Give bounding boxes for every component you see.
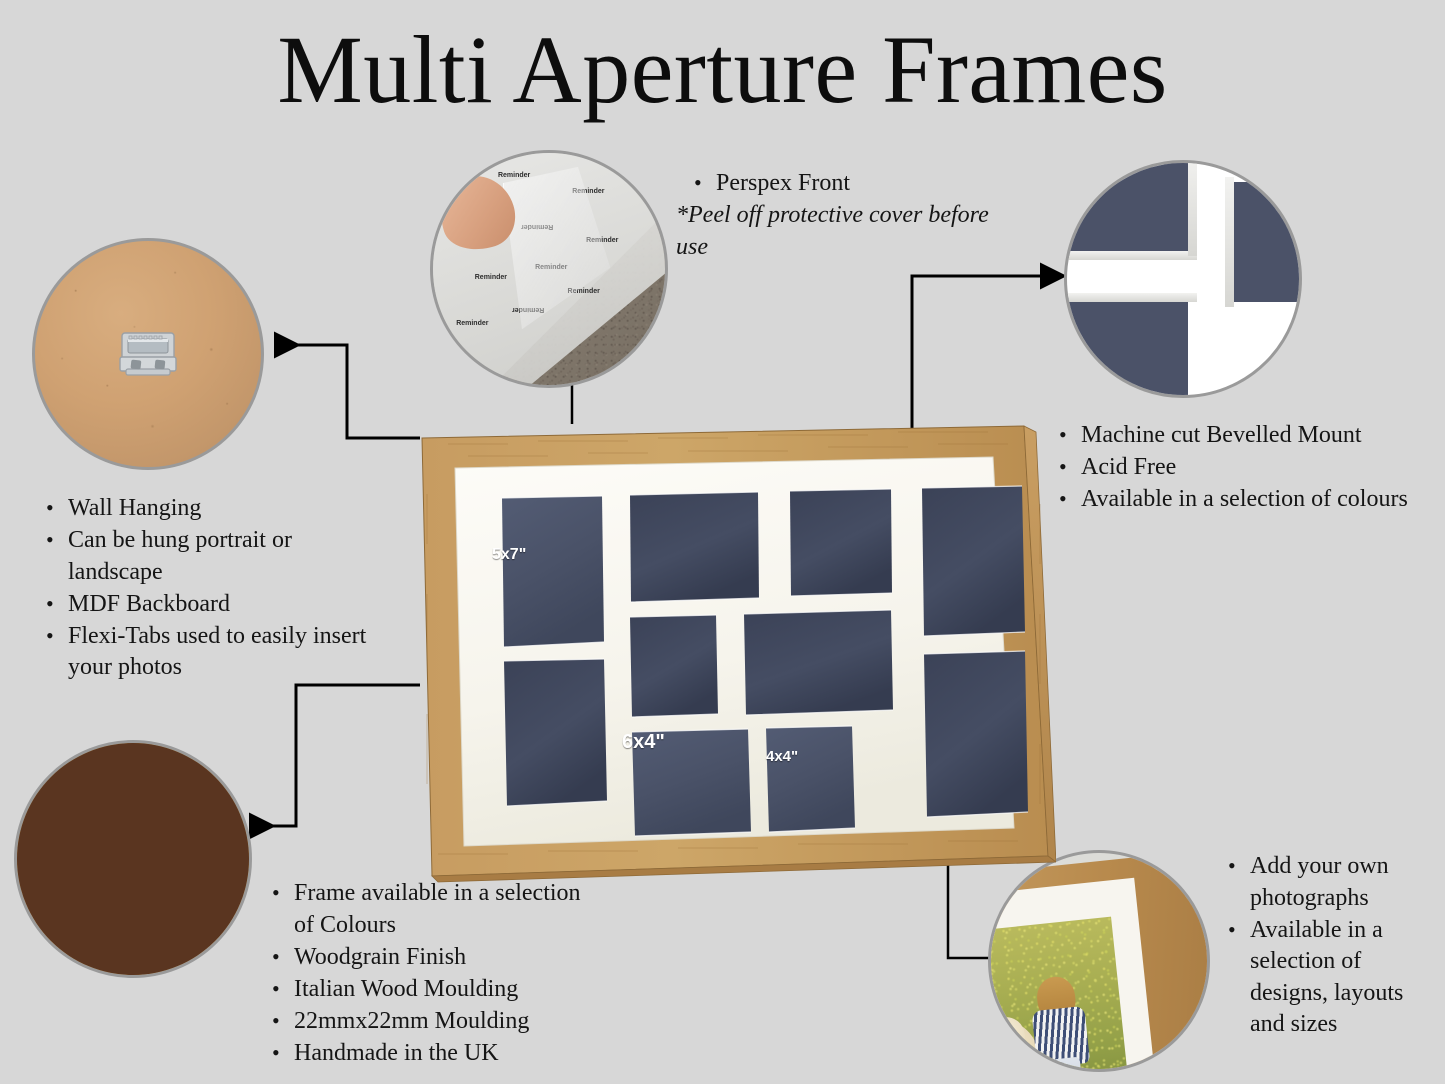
aperture-r1-c4 <box>922 486 1025 636</box>
aperture-label-4x4: 4x4" <box>766 748 798 765</box>
bullet-item: Handmade in the UK <box>268 1038 598 1070</box>
bullet-item: Can be hung portrait or landscape <box>42 525 382 588</box>
bullet-item: Perspex Front <box>690 168 1020 200</box>
aperture-top-left <box>1064 160 1188 256</box>
flexi-tab-hanger-icon <box>118 331 178 377</box>
bullet-item: Add your own photographs <box>1224 851 1439 914</box>
bullet-item: MDF Backboard <box>42 589 382 621</box>
aperture-bottom-left <box>1064 298 1188 398</box>
bullet-item: Flexi-Tabs used to easily insert your ph… <box>42 621 382 684</box>
child-figure <box>988 1015 989 1072</box>
aperture-r2-c3 <box>744 610 893 715</box>
bullet-item: Available in a selection of colours <box>1055 484 1415 516</box>
woman-figure <box>1026 975 1095 1072</box>
aperture-top-right <box>1234 182 1302 303</box>
aperture-4x4-square <box>766 726 855 832</box>
aperture-label-5x7: 5x7" <box>492 546 526 564</box>
aperture-r3-c1 <box>504 659 607 806</box>
inserted-photograph <box>988 917 1130 1072</box>
arrow-to-colours <box>252 685 420 826</box>
perspex-peel-photo: Reminder Reminder Reminder Reminder Remi… <box>430 150 668 388</box>
aperture-label-6x4: 6x4" <box>622 731 665 754</box>
callout-text-photos: Add your own photographs Available in a … <box>1224 851 1439 1041</box>
bevel-edge-4 <box>1064 293 1197 302</box>
bullet-item: Available in a selection of designs, lay… <box>1224 915 1439 1041</box>
aperture-r2r3-c4 <box>924 651 1028 817</box>
bullet-item: Woodgrain Finish <box>268 942 598 974</box>
callout-text-wall-hanging: Wall Hanging Can be hung portrait or lan… <box>42 493 382 684</box>
bevelled-mount-closeup <box>1064 160 1302 398</box>
frame-colour-samples <box>14 740 252 978</box>
aperture-r1-c3 <box>790 489 892 596</box>
bullet-item: Acid Free <box>1055 452 1415 484</box>
bevel-edge-3 <box>1225 177 1234 307</box>
arrow-to-backboard <box>277 345 420 438</box>
aperture-r1-c2 <box>630 492 759 602</box>
aperture-5x7-portrait <box>502 496 604 647</box>
bullet-item: Machine cut Bevelled Mount <box>1055 420 1415 452</box>
product-frame <box>408 414 1056 884</box>
infographic-page: Multi Aperture Frames <box>0 0 1445 1084</box>
aperture-r2-c2 <box>630 615 718 717</box>
bevel-edge-1 <box>1064 251 1197 260</box>
mdf-backboard-photo <box>32 238 264 470</box>
callout-text-mount: Machine cut Bevelled Mount Acid Free Ava… <box>1055 420 1415 516</box>
woman-jeans <box>1043 1057 1084 1072</box>
page-title: Multi Aperture Frames <box>0 14 1445 126</box>
bullet-item: 22mmx22mm Moulding <box>268 1006 598 1038</box>
sample-dark-brown <box>14 740 252 978</box>
bevel-edge-2 <box>1188 160 1197 256</box>
bullet-item: Italian Wood Moulding <box>268 974 598 1006</box>
bullet-item: Frame available in a selection of Colour… <box>268 878 598 941</box>
bullet-item: Wall Hanging <box>42 493 382 525</box>
callout-text-perspex: Perspex Front <box>690 168 1020 200</box>
perspex-note: *Peel off protective cover before use <box>676 200 1021 263</box>
callout-text-colours: Frame available in a selection of Colour… <box>268 878 598 1070</box>
